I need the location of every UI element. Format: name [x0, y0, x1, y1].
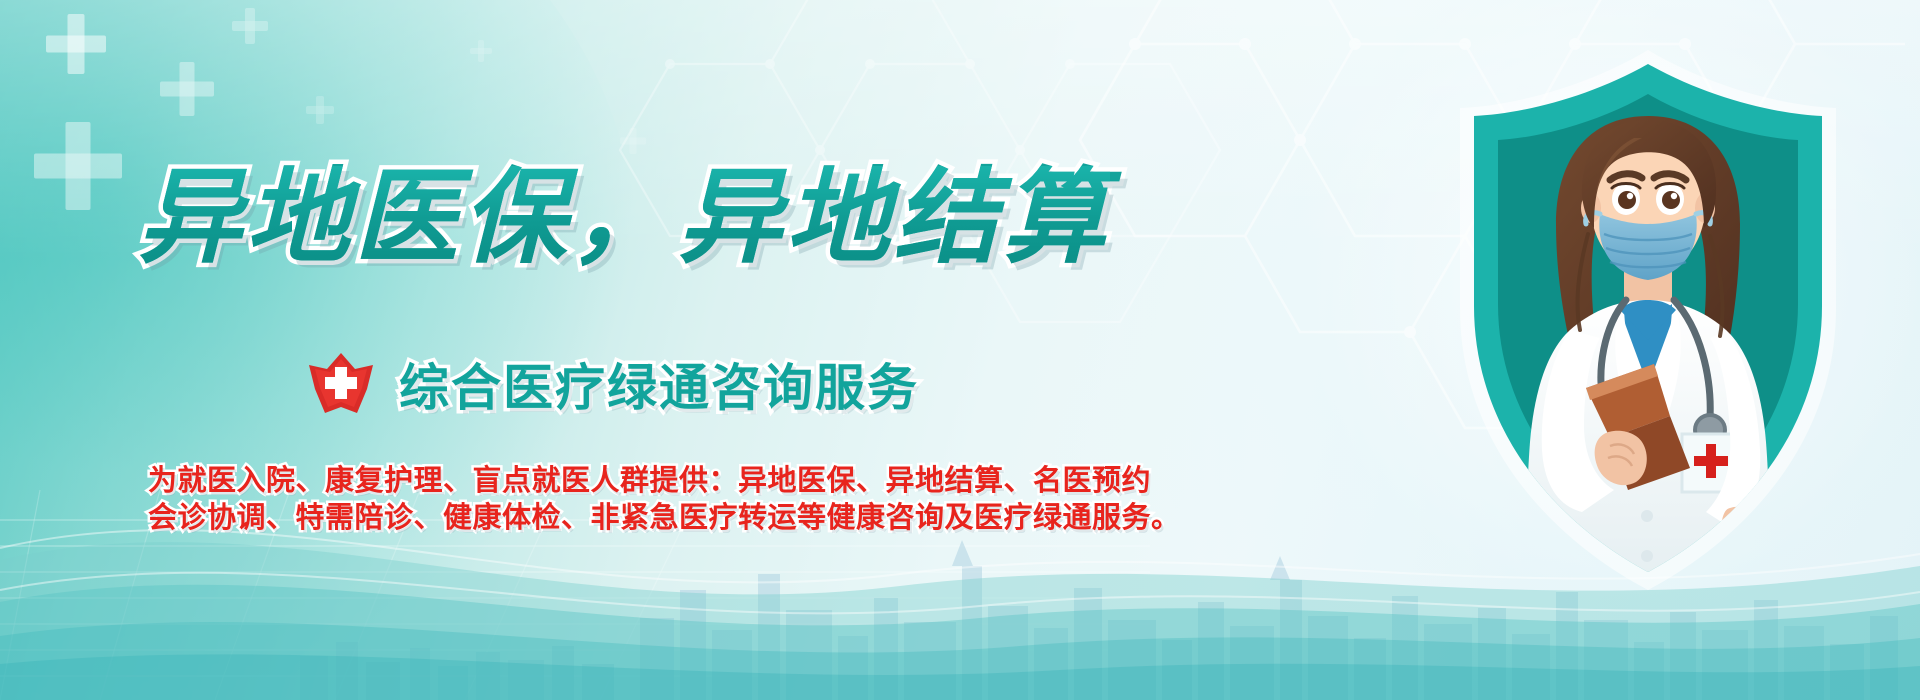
description-line-2: 会诊协调、特需陪诊、健康体检、非紧急医疗转运等健康咨询及医疗绿通服务。	[148, 500, 1108, 537]
doctor-shield-illustration	[1438, 38, 1858, 598]
coat-button	[1641, 510, 1653, 522]
coat-button	[1641, 550, 1653, 562]
banner-text-content: 异地医保，异地结算 异地医保，异地结算 综合医疗绿通咨询服务 为就医入院、康复护…	[0, 0, 1160, 700]
medical-service-banner: 异地医保，异地结算 异地医保，异地结算 综合医疗绿通咨询服务 为就医入院、康复护…	[0, 0, 1920, 700]
banner-subtitle: 综合医疗绿通咨询服务	[399, 348, 919, 420]
red-cross-badge-icon	[305, 351, 377, 417]
banner-title: 异地医保，异地结算	[138, 166, 1110, 270]
banner-subtitle-row: 综合医疗绿通咨询服务	[305, 348, 919, 420]
banner-description: 为就医入院、康复护理、盲点就医人群提供：异地医保、异地结算、名医预约 会诊协调、…	[148, 463, 1108, 537]
description-line-1: 为就医入院、康复护理、盲点就医人群提供：异地医保、异地结算、名医预约	[148, 463, 1108, 500]
